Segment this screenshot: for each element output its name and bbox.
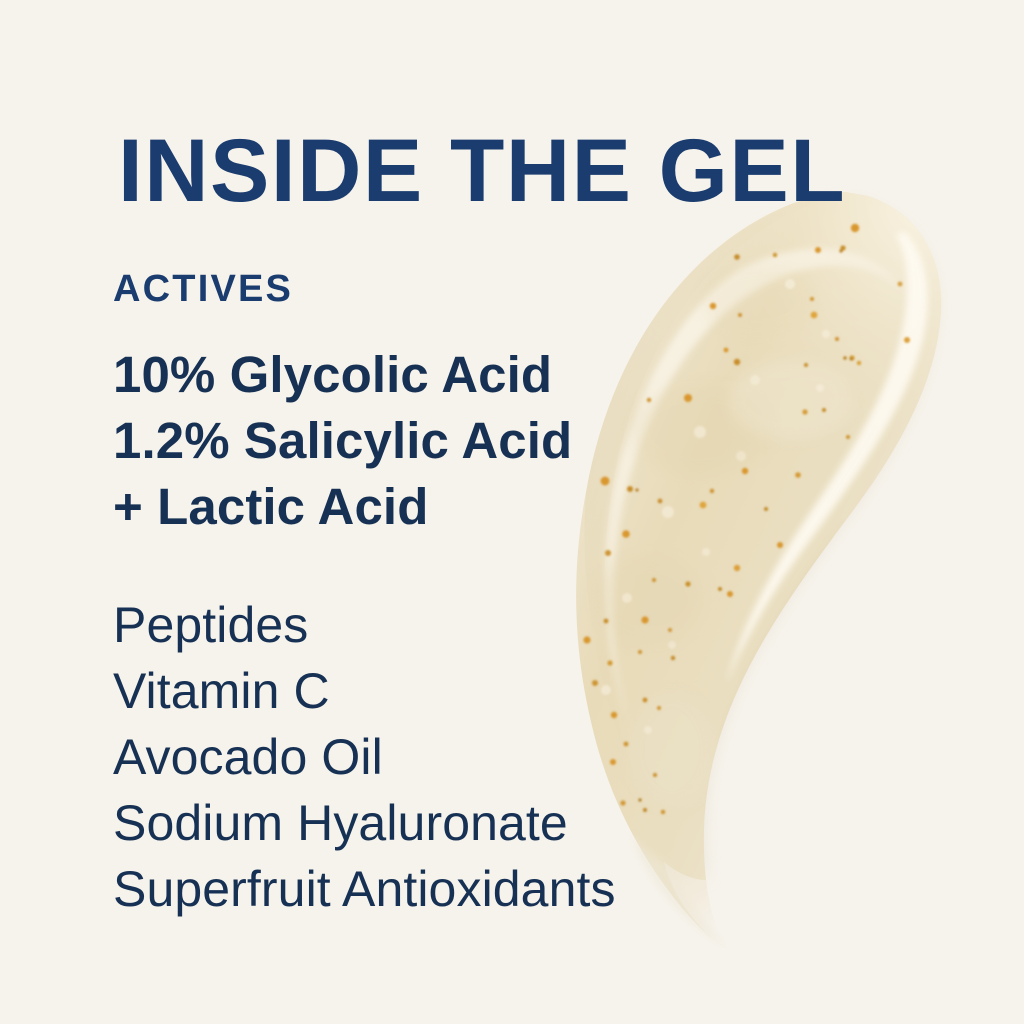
page-title: INSIDE THE GEL [118,126,918,215]
actives-heading: ACTIVES [113,268,633,312]
actives-section: ACTIVES 10% Glycolic Acid 1.2% Salicylic… [113,268,633,540]
ingredient-sodium-hyaluronate: Sodium Hyaluronate [113,790,713,856]
ingredient-vitamin-c: Vitamin C [113,658,713,724]
active-ingredient-salicylic: 1.2% Salicylic Acid [113,408,633,474]
ingredient-superfruit-antioxidants: Superfruit Antioxidants [113,856,713,922]
active-ingredient-lactic: + Lactic Acid [113,474,633,540]
ingredient-peptides: Peptides [113,592,713,658]
infographic-canvas: INSIDE THE GEL ACTIVES 10% Glycolic Acid… [0,0,1024,1024]
ingredients-section: Peptides Vitamin C Avocado Oil Sodium Hy… [113,592,713,922]
active-ingredient-glycolic: 10% Glycolic Acid [113,342,633,408]
ingredient-avocado-oil: Avocado Oil [113,724,713,790]
